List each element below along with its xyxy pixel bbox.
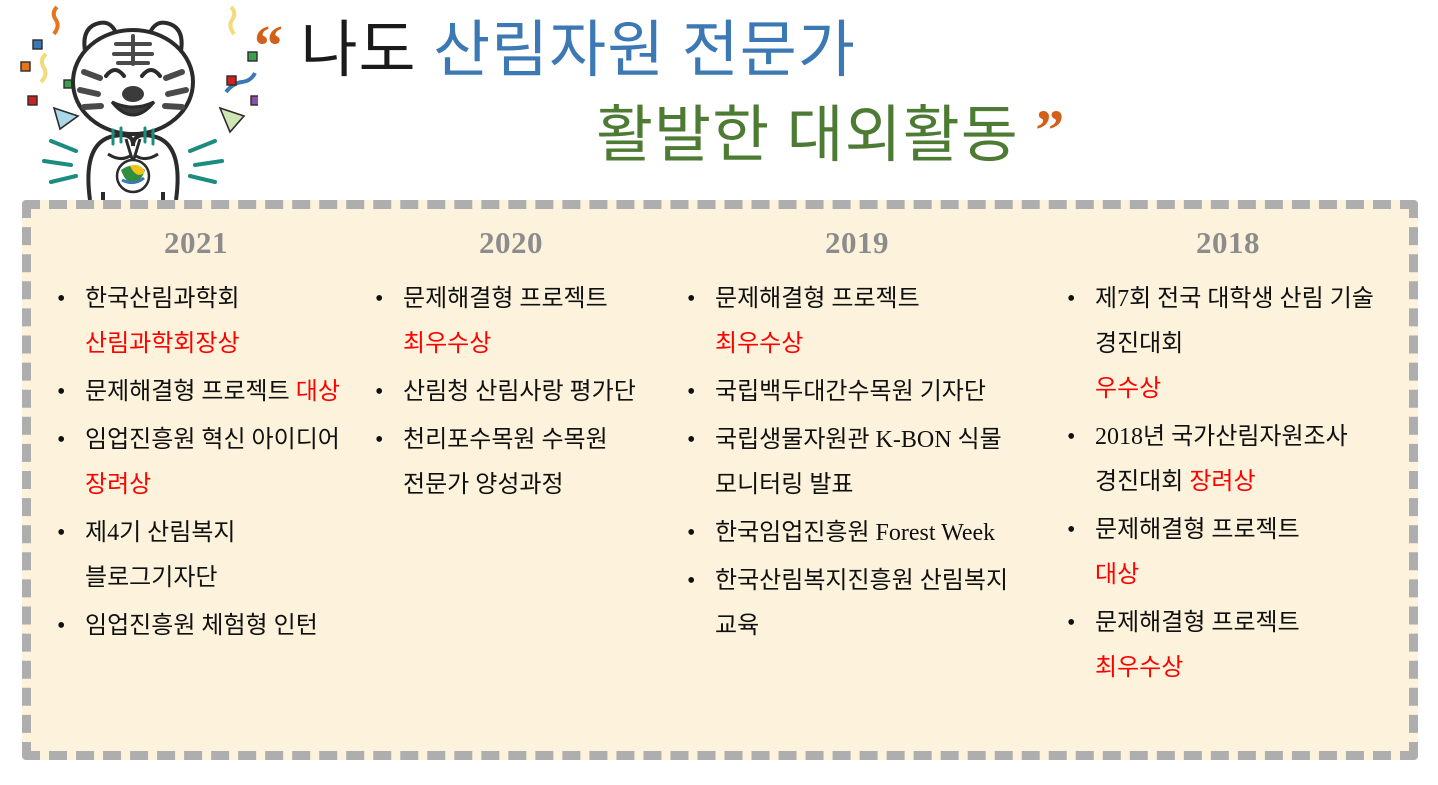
item-text: 국립백두대간수목원 기자단 — [715, 379, 986, 405]
item-text: 제4기 산림복지 블로그기자단 — [85, 520, 235, 591]
activities-panel: 2021 •한국산림과학회 산림과학회장상 •문제해결형 프로젝트 대상 •임업… — [22, 200, 1418, 760]
activity-list-2020: •문제해결형 프로젝트 최우수상 •산림청 산림사랑 평가단 •천리포수목원 수… — [361, 277, 661, 508]
year-heading-2019: 2019 — [673, 225, 1041, 261]
year-heading-2020: 2020 — [361, 225, 661, 261]
title-line-1: “ 나도 산림자원 전문가 — [250, 6, 1430, 91]
item-text: 문제해결형 프로젝트 — [85, 379, 296, 405]
year-column-2020: 2020 •문제해결형 프로젝트 최우수상 •산림청 산림사랑 평가단 •천리포… — [355, 225, 667, 745]
item-text: 국립생물자원관 K-BON 식물 모니터링 발표 — [715, 427, 1002, 498]
title-highlight-blue: 산림자원 전문가 — [433, 17, 856, 85]
item-text: 한국산림과학회 — [85, 286, 240, 312]
bullet-icon: • — [375, 418, 383, 463]
award-label: 최우수상 — [403, 331, 491, 357]
title-block: “ 나도 산림자원 전문가 활발한 대외활동 ” — [250, 6, 1430, 176]
list-item: •2018년 국가산림자원조사 경진대회 장려상 — [1053, 415, 1403, 505]
bullet-icon: • — [57, 511, 65, 556]
activity-list-2018: •제7회 전국 대학생 산림 기술 경진대회우수상 •2018년 국가산림자원조… — [1053, 277, 1403, 691]
bullet-icon: • — [57, 604, 65, 649]
item-text: 문제해결형 프로젝트 — [1095, 610, 1300, 636]
year-heading-2018: 2018 — [1053, 225, 1403, 261]
award-label: 최우수상 — [715, 322, 1041, 367]
item-text: 문제해결형 프로젝트 — [403, 286, 608, 312]
bullet-icon: • — [1067, 277, 1075, 322]
year-column-2019: 2019 •문제해결형 프로젝트최우수상 •국립백두대간수목원 기자단 •국립생… — [667, 225, 1047, 745]
year-heading-2021: 2021 — [43, 225, 349, 261]
list-item: •한국산림과학회 산림과학회장상 — [43, 277, 349, 367]
bullet-icon: • — [1067, 508, 1075, 553]
bullet-icon: • — [687, 370, 695, 415]
year-column-2018: 2018 •제7회 전국 대학생 산림 기술 경진대회우수상 •2018년 국가… — [1047, 225, 1409, 745]
list-item: •국립백두대간수목원 기자단 — [673, 370, 1041, 415]
year-columns: 2021 •한국산림과학회 산림과학회장상 •문제해결형 프로젝트 대상 •임업… — [31, 209, 1409, 751]
list-item: •한국임업진흥원 Forest Week — [673, 511, 1041, 556]
list-item: •제4기 산림복지 블로그기자단 — [43, 511, 349, 601]
bullet-icon: • — [1067, 415, 1075, 460]
list-item: •제7회 전국 대학생 산림 기술 경진대회우수상 — [1053, 277, 1403, 412]
title-line-2: 활발한 대외활동 ” — [250, 91, 1430, 176]
list-item: •산림청 산림사랑 평가단 — [361, 370, 661, 415]
bullet-icon: • — [57, 370, 65, 415]
item-text: 임업진흥원 체험형 인턴 — [85, 613, 318, 639]
bullet-icon: • — [687, 418, 695, 463]
close-quote-icon: ” — [1035, 98, 1065, 163]
title-highlight-green: 활발한 대외활동 — [596, 102, 1019, 170]
item-text: 한국산림복지진흥원 산림복지 교육 — [715, 568, 1008, 639]
list-item: •국립생물자원관 K-BON 식물 모니터링 발표 — [673, 418, 1041, 508]
bullet-icon: • — [57, 277, 65, 322]
award-label: 장려상 — [85, 472, 151, 498]
item-text: 문제해결형 프로젝트 — [715, 286, 920, 312]
list-item: •문제해결형 프로젝트최우수상 — [1053, 601, 1403, 691]
item-text: 제7회 전국 대학생 산림 기술 경진대회 — [1095, 286, 1374, 357]
item-text: 산림청 산림사랑 평가단 — [403, 379, 636, 405]
open-quote-icon: “ — [254, 13, 284, 78]
bullet-icon: • — [375, 277, 383, 322]
year-column-2021: 2021 •한국산림과학회 산림과학회장상 •문제해결형 프로젝트 대상 •임업… — [37, 225, 355, 745]
item-text: 한국임업진흥원 Forest Week — [715, 520, 995, 546]
header-banner: “ 나도 산림자원 전문가 활발한 대외활동 ” — [0, 0, 1438, 196]
list-item: •문제해결형 프로젝트최우수상 — [673, 277, 1041, 367]
item-text: 문제해결형 프로젝트 — [1095, 517, 1300, 543]
list-item: •임업진흥원 혁신 아이디어 장려상 — [43, 418, 349, 508]
list-item: •문제해결형 프로젝트대상 — [1053, 508, 1403, 598]
item-text: 천리포수목원 수목원 전문가 양성과정 — [403, 427, 608, 498]
list-item: •천리포수목원 수목원 전문가 양성과정 — [361, 418, 661, 508]
list-item: •임업진흥원 체험형 인턴 — [43, 604, 349, 649]
tiger-mascot-icon — [8, 4, 258, 200]
list-item: •한국산림복지진흥원 산림복지 교육 — [673, 559, 1041, 649]
award-label: 산림과학회장상 — [85, 331, 240, 357]
bullet-icon: • — [687, 277, 695, 322]
bullet-icon: • — [687, 559, 695, 604]
award-label: 장려상 — [1189, 469, 1255, 495]
bullet-icon: • — [57, 418, 65, 463]
bullet-icon: • — [687, 511, 695, 556]
item-text: 임업진흥원 혁신 아이디어 — [85, 427, 340, 453]
award-label: 대상 — [296, 379, 340, 405]
award-label: 우수상 — [1095, 367, 1403, 412]
activity-list-2021: •한국산림과학회 산림과학회장상 •문제해결형 프로젝트 대상 •임업진흥원 혁… — [43, 277, 349, 649]
activity-list-2019: •문제해결형 프로젝트최우수상 •국립백두대간수목원 기자단 •국립생물자원관 … — [673, 277, 1041, 649]
bullet-icon: • — [375, 370, 383, 415]
bullet-icon: • — [1067, 601, 1075, 646]
award-label: 최우수상 — [1095, 646, 1403, 691]
award-label: 대상 — [1095, 553, 1403, 598]
list-item: •문제해결형 프로젝트 대상 — [43, 370, 349, 415]
list-item: •문제해결형 프로젝트 최우수상 — [361, 277, 661, 367]
title-prefix: 나도 — [301, 17, 417, 85]
